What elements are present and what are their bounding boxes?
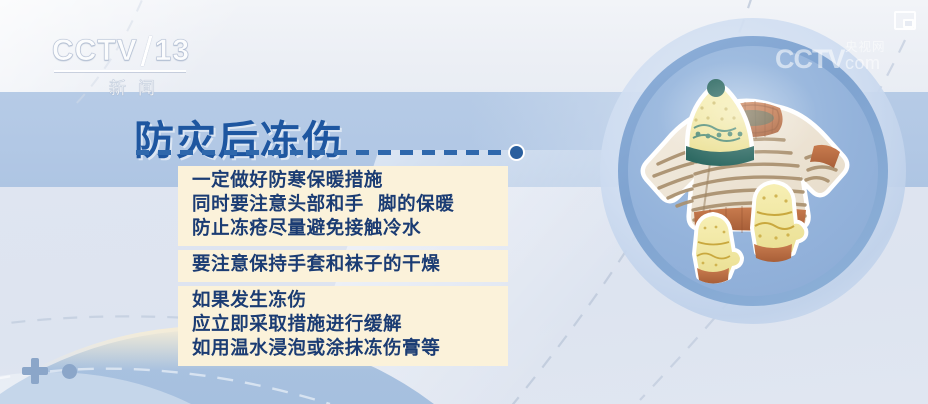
advice-line: 应立即采取措施进行缓解 [192, 313, 494, 337]
illustration-gloss [658, 60, 818, 170]
advice-line: 如果发生冻伤 [192, 289, 494, 313]
logo-divider-rule [54, 70, 186, 72]
logo-wordmark: CCTV 13 [52, 34, 212, 68]
illustration-ring-inner [628, 46, 878, 296]
advice-line: 防止冻疮尽量避免接触冷水 [192, 217, 494, 241]
decorative-dot-shape [62, 364, 77, 379]
advice-block: 要注意保持手套和袜子的干燥 [178, 250, 508, 282]
logo-channel-number: 13 [155, 34, 190, 68]
advice-block: 如果发生冻伤 应立即采取措施进行缓解 如用温水浸泡或涂抹冻伤膏等 [178, 286, 508, 366]
advice-line: 要注意保持手套和袜子的干燥 [192, 253, 494, 277]
illustration-circle [600, 18, 906, 324]
picture-in-picture-icon[interactable] [894, 11, 916, 30]
cctv13-channel-logo: CCTV 13 新闻 [52, 34, 212, 96]
logo-subtitle: 新闻 [52, 74, 212, 99]
advice-line: 一定做好防寒保暖措施 [192, 169, 494, 193]
broadcast-graphic-stage: CCTV 13 新闻 防灾后冻伤 一定做好防寒保暖措施 同时要注意头部和手 脚的… [0, 0, 928, 404]
advice-block-list: 一定做好防寒保暖措施 同时要注意头部和手 脚的保暖 防止冻疮尽量避免接触冷水 要… [178, 166, 508, 370]
headline-dashed-rule [136, 150, 508, 155]
page-title: 防灾后冻伤 [134, 108, 344, 166]
headline-end-dot-icon [508, 144, 525, 161]
advice-line: 同时要注意头部和手 脚的保暖 [192, 193, 494, 217]
logo-slash-icon [140, 36, 152, 66]
advice-line: 如用温水浸泡或涂抹冻伤膏等 [192, 337, 494, 361]
decorative-plus-shape [22, 358, 48, 384]
advice-block: 一定做好防寒保暖措施 同时要注意头部和手 脚的保暖 防止冻疮尽量避免接触冷水 [178, 166, 508, 246]
logo-cctv-text: CCTV [52, 34, 138, 68]
pip-inner-frame [903, 19, 914, 28]
